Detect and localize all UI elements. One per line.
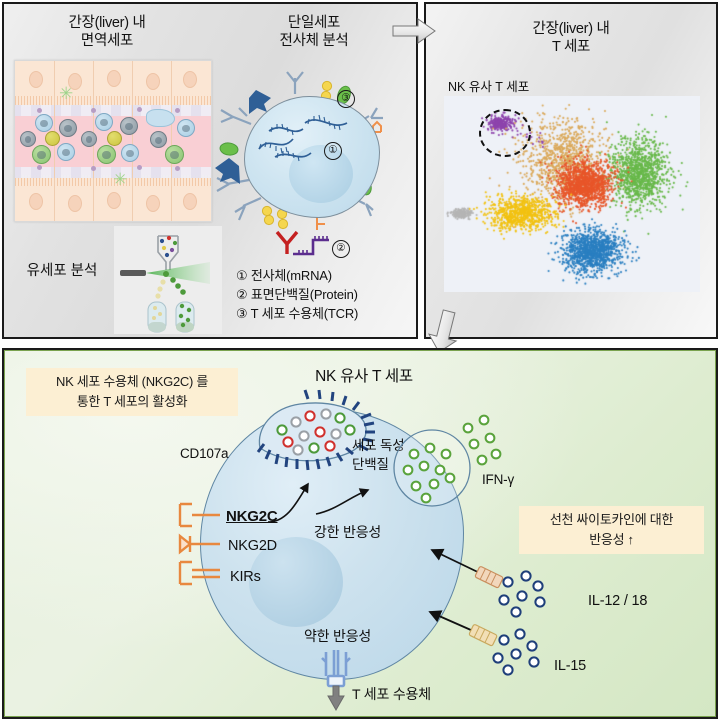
nkg2c-receptor-icon — [180, 504, 220, 526]
label-strong-response: 강한 반응성 — [314, 522, 381, 542]
panel-right-title-line2: T 세포 — [426, 38, 716, 56]
umap-subtitle: NK 유사 T 세포 — [448, 76, 529, 95]
nk-like-cluster-highlight — [479, 109, 531, 157]
legend-label-1: 전사체(mRNA) — [251, 268, 332, 283]
liver-tissue-illustration: ✳ ✳ — [14, 60, 212, 222]
flow-cytometry-label: 유세포 분석 — [14, 259, 110, 280]
panel-right-title-line1: 간장(liver) 내 — [426, 20, 716, 38]
panel-right-title: 간장(liver) 내 T 세포 — [426, 20, 716, 56]
kupffer-cell — [146, 109, 175, 127]
label-cd107a: CD107a — [180, 446, 228, 461]
callout-right-line2: 반응성 ↑ — [519, 530, 704, 550]
nkg2d-receptor-icon — [180, 536, 220, 552]
callout-nkg2c-activation: NK 세포 수용체 (NKG2C) 를 통한 T 세포의 활성화 — [26, 368, 238, 416]
panel-left-title-line2: 면역세포 — [4, 32, 210, 50]
panel-left-title-line1: 간장(liver) 내 — [4, 14, 210, 32]
legend-num-1: ① — [236, 268, 247, 283]
legend-num-3: ③ — [236, 306, 247, 321]
panel-sc-title-line2: 전사체 분석 — [216, 32, 412, 50]
stellate-cell-bottom: ✳ — [113, 171, 127, 188]
label-nkg2c: NKG2C — [226, 508, 278, 525]
label-il-12-18: IL-12 / 18 — [588, 593, 647, 609]
ifn-gamma-secretion — [382, 406, 542, 546]
stellate-cell-top: ✳ — [59, 85, 73, 102]
bottom-panel-title: NK 유사 T 세포 — [244, 364, 484, 386]
badge-two: ② — [332, 240, 350, 258]
label-weak-response: 약한 반응성 — [304, 626, 371, 646]
kirs-receptor-icon — [180, 562, 220, 584]
legend-label-2: 표면단백질(Protein) — [251, 287, 358, 302]
panel-liver-t-cells: 간장(liver) 내 T 세포 NK 유사 T 세포 — [424, 2, 718, 339]
panel-sc-title: 단일세포 전사체 분석 — [216, 14, 412, 50]
panel-liver-immune-cells: 간장(liver) 내 면역세포 단일세포 전사체 분석 — [2, 2, 418, 339]
callout-left-line1: NK 세포 수용체 (NKG2C) 를 — [26, 372, 238, 392]
single-cell-body — [244, 96, 380, 218]
label-nkg2d: NKG2D — [228, 538, 277, 554]
label-il-15: IL-15 — [554, 658, 586, 674]
panel-nk-like-t-cell: NK 유사 T 세포 NK 세포 수용체 (NKG2C) 를 통한 T 세포의 … — [2, 348, 718, 719]
badge-three: ③ — [337, 90, 355, 108]
callout-right-line1: 선천 싸이토카인에 대한 — [519, 510, 704, 530]
legend-item-1: ① 전사체(mRNA) — [236, 266, 358, 285]
callout-left-line2: 통한 T 세포의 활성화 — [26, 392, 238, 412]
legend-label-3: T 세포 수용체(TCR) — [251, 306, 359, 321]
badge-one: ① — [324, 142, 342, 160]
label-ifn-gamma: IFN-γ — [482, 472, 514, 487]
marker-legend: ① 전사체(mRNA) ② 표면단백질(Protein) ③ T 세포 수용체(… — [236, 266, 358, 323]
panel-left-title: 간장(liver) 내 면역세포 — [4, 14, 210, 50]
scientific-figure: 간장(liver) 내 면역세포 단일세포 전사체 분석 — [0, 0, 720, 721]
flow-cytometry-illustration — [114, 226, 222, 334]
legend-num-2: ② — [236, 287, 247, 302]
panel-sc-title-line1: 단일세포 — [216, 14, 412, 32]
tcr-complex-icon — [304, 648, 368, 714]
legend-item-2: ② 표면단백질(Protein) — [236, 285, 358, 304]
legend-item-3: ③ T 세포 수용체(TCR) — [236, 304, 358, 323]
arrow-right-icon — [392, 18, 436, 44]
callout-innate-cytokine: 선천 싸이토카인에 대한 반응성 ↑ — [519, 506, 704, 554]
label-kirs: KIRs — [230, 569, 261, 585]
umap-plot — [444, 96, 700, 292]
label-tcr: T 세포 수용체 — [352, 684, 431, 704]
